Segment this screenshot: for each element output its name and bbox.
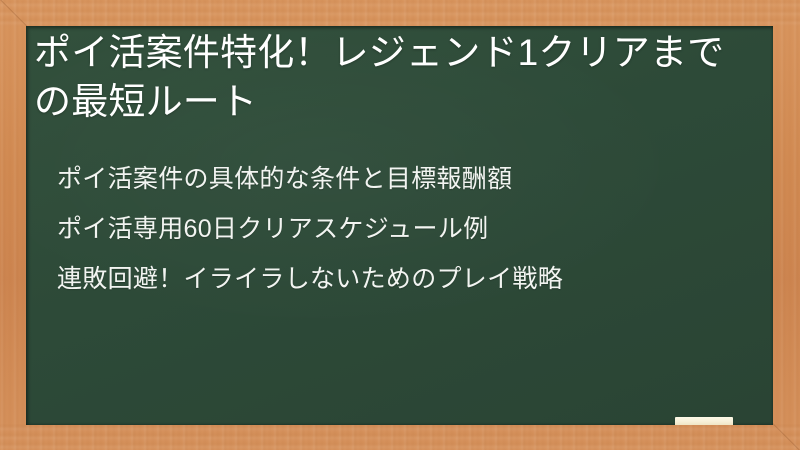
chalk-stick-icon (675, 417, 733, 425)
frame-bottom-rail-grain (0, 424, 800, 450)
topic-list-item: ポイ活案件の具体的な条件と目標報酬額 (57, 154, 747, 204)
blackboard-wooden-frame: ポイ活案件特化！レジェンド1クリアまでの最短ルート ポイ活案件の具体的な条件と目… (0, 0, 800, 450)
slide-title: ポイ活案件特化！レジェンド1クリアまでの最短ルート (34, 28, 734, 126)
topic-list-item: ポイ活専用60日クリアスケジュール例 (57, 204, 747, 254)
topic-list-item: 連敗回避！イライラしないためのプレイ戦略 (57, 254, 747, 304)
topic-list: ポイ活案件の具体的な条件と目標報酬額 ポイ活専用60日クリアスケジュール例 連敗… (57, 154, 747, 304)
chalkboard-surface: ポイ活案件特化！レジェンド1クリアまでの最短ルート ポイ活案件の具体的な条件と目… (26, 26, 773, 425)
frame-top-rail-grain (0, 0, 800, 26)
